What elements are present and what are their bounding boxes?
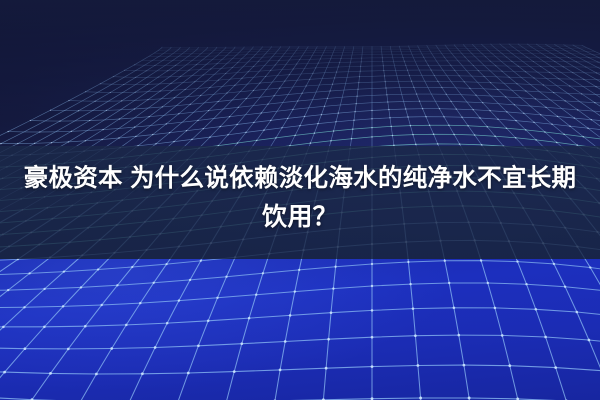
banner-canvas: 豪极资本 为什么说依赖淡化海水的纯净水不宜长期 饮用？	[0, 0, 600, 400]
headline-line-2: 饮用？	[262, 198, 338, 236]
headline-block: 豪极资本 为什么说依赖淡化海水的纯净水不宜长期 饮用？	[0, 150, 600, 255]
headline-line-1: 豪极资本 为什么说依赖淡化海水的纯净水不宜长期	[0, 160, 600, 198]
